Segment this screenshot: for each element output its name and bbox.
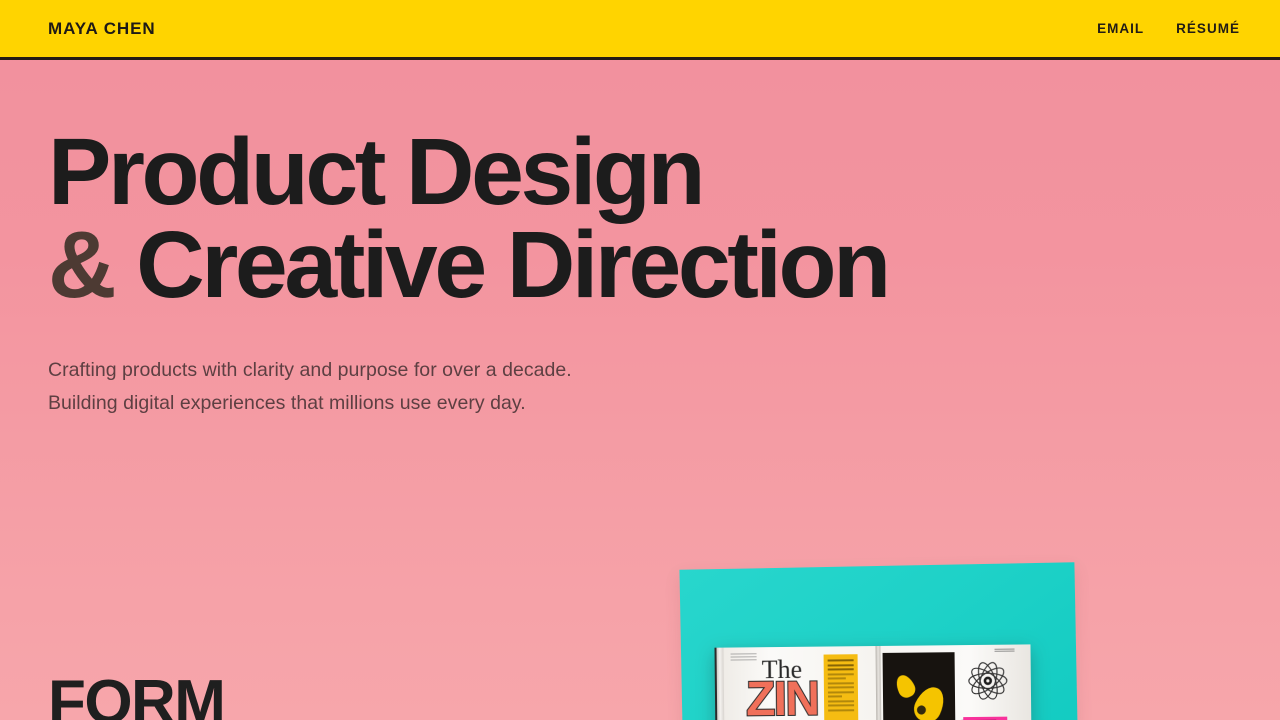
headline-line-2-text: Creative Direction — [136, 212, 888, 318]
section-heading-form: FORM — [48, 672, 224, 720]
page-title: Product Design & Creative Direction — [48, 126, 1280, 312]
hero-subtitle-line-1: Crafting products with clarity and purpo… — [48, 354, 1280, 386]
portfolio-landing-page: MAYA CHEN EMAIL RÉSUMÉ Product Design & … — [0, 0, 1280, 720]
nav-link-resume[interactable]: RÉSUMÉ — [1176, 22, 1240, 36]
headline-line-2: & Creative Direction — [48, 219, 1280, 312]
open-magazine: The ZIN — [714, 644, 1040, 720]
magazine-photo: The ZIN — [655, 545, 1125, 720]
magazine-yellow-sidebar — [824, 654, 859, 720]
headline-ampersand: & — [48, 212, 113, 318]
magazine-left-page: The ZIN — [723, 646, 876, 720]
hero-section: Product Design & Creative Direction Craf… — [0, 60, 1280, 419]
primary-navigation: EMAIL RÉSUMÉ — [1097, 22, 1240, 36]
nav-link-email[interactable]: EMAIL — [1097, 22, 1144, 36]
hero-subtitle: Crafting products with clarity and purpo… — [48, 354, 1280, 419]
magazine-masthead: ZIN — [746, 676, 819, 720]
pink-sticky-note — [963, 717, 1007, 720]
hero-subtitle-line-2: Building digital experiences that millio… — [48, 387, 1280, 419]
black-artwork-plate — [883, 652, 956, 720]
pear-shape-small-icon — [893, 672, 918, 700]
running-head-text-lines — [731, 653, 757, 660]
atom-diagram-icon — [966, 659, 1010, 703]
headline-line-1: Product Design — [48, 126, 1280, 219]
site-header: MAYA CHEN EMAIL RÉSUMÉ — [0, 0, 1280, 60]
pear-shape-large-icon — [910, 682, 950, 720]
magazine-right-page — [880, 644, 1031, 720]
brand-wordmark[interactable]: MAYA CHEN — [48, 20, 156, 37]
magazine-folio-text — [995, 649, 1015, 653]
